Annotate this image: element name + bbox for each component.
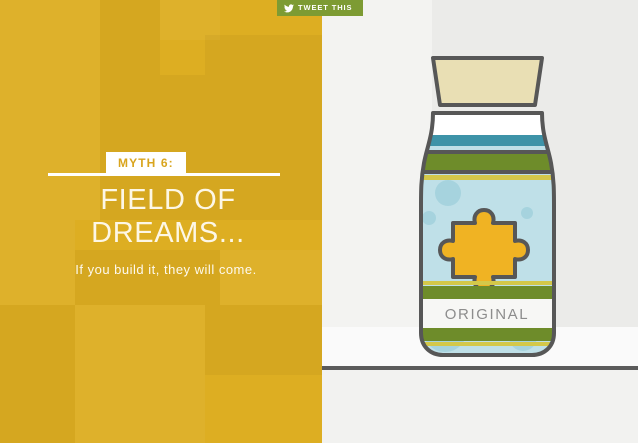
bottle-cap bbox=[433, 58, 542, 105]
texture-block bbox=[75, 305, 205, 443]
texture-block bbox=[205, 305, 322, 375]
stripe-yellow-neck bbox=[415, 175, 560, 180]
badge-rule bbox=[48, 173, 280, 176]
page-title: FIELD OF DREAMS... bbox=[0, 184, 322, 250]
bubble bbox=[422, 211, 436, 225]
title-line-1: FIELD OF bbox=[100, 184, 235, 216]
twitter-bird-icon bbox=[284, 4, 294, 13]
tweet-this-label: TWEET THIS bbox=[298, 4, 352, 12]
headline-block: MYTH 6: FIELD OF DREAMS... If you build … bbox=[0, 152, 322, 277]
myth-badge-label: MYTH 6: bbox=[118, 157, 174, 169]
label-stripe-olive-top bbox=[415, 286, 560, 299]
tweet-this-button[interactable]: TWEET THIS bbox=[277, 0, 363, 16]
bottle-contents: ORIGINAL bbox=[415, 135, 560, 370]
badge-row: MYTH 6: bbox=[0, 152, 322, 178]
label-stripe-olive-bottom bbox=[415, 328, 560, 341]
label-stripe-yellow-bottom bbox=[415, 342, 560, 346]
puzzle-piece-icon bbox=[440, 210, 528, 290]
bubble bbox=[521, 207, 533, 219]
slide-canvas: TWEET THIS MYTH 6: FIELD OF DREAMS... If… bbox=[0, 0, 638, 443]
texture-block bbox=[100, 0, 160, 75]
milk-bottle-graphic: ORIGINAL bbox=[415, 55, 560, 370]
page-subtitle: If you build it, they will come. bbox=[0, 262, 322, 277]
title-line-2: DREAMS... bbox=[14, 217, 322, 250]
paper-panel-lower bbox=[322, 370, 638, 443]
bottle-label-text: ORIGINAL bbox=[445, 306, 529, 323]
texture-block bbox=[0, 0, 100, 120]
stripe-teal bbox=[415, 135, 560, 146]
texture-block bbox=[160, 0, 220, 40]
texture-block bbox=[0, 305, 75, 443]
myth-badge: MYTH 6: bbox=[106, 152, 186, 173]
bubble bbox=[435, 180, 461, 206]
label-stripe-yellow-top bbox=[415, 281, 560, 285]
stripe-olive-neck bbox=[415, 152, 560, 172]
milk-bottle-illustration: ORIGINAL bbox=[415, 55, 560, 370]
